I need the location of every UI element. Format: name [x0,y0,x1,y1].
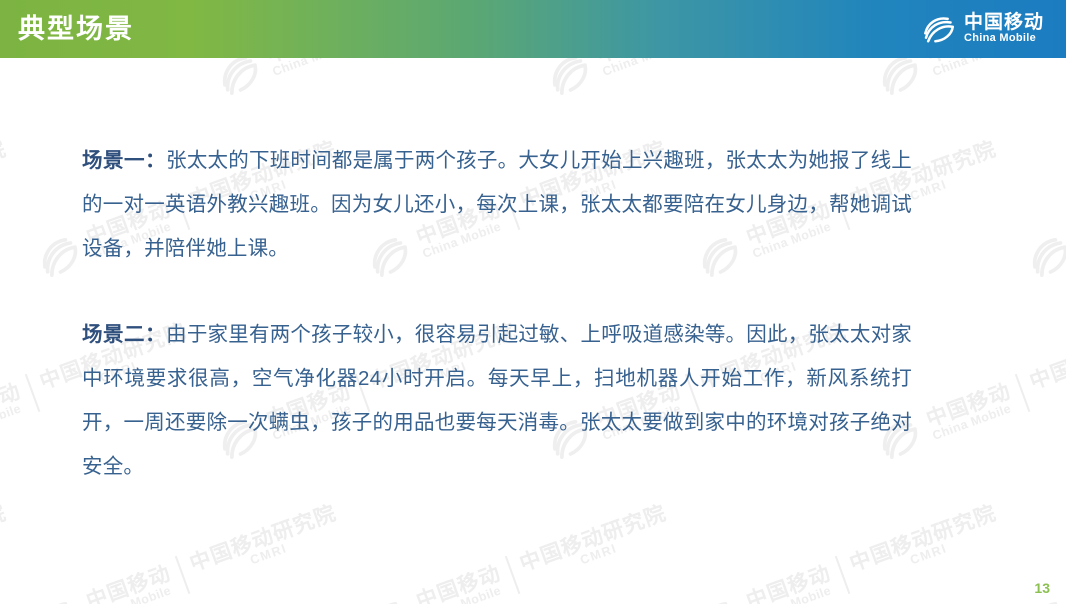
scenario-paragraph-2: 场景二：由于家里有两个孩子较小，很容易引起过敏、上呼吸道感染等。因此，张太太对家… [82,313,912,489]
watermark-brand-en: China Mobile [0,401,28,443]
china-mobile-logo: 中国移动 China Mobile [921,11,1044,47]
slide-canvas: 中国移动 China Mobile 中国移动研究院 CMRI [0,0,1066,604]
slide-header: 典型场景 中国移动 China Mobile [0,0,1066,58]
watermark-institute-en: CMRI [194,523,343,588]
watermark-brand-en: China Mobile [931,401,1018,443]
watermark-tile: 中国移动 China Mobile 中国移动研究院 CMRI [0,133,15,285]
watermark-text: 中国移动 China Mobile 中国移动研究院 CMRI [0,500,14,604]
watermark-text: 中国移动 China Mobile 中国移动研究院 CMRI [743,500,1005,604]
watermark-institute: 中国移动研究院 CMRI [847,502,1004,587]
watermark-institute-cn: 中国移动研究院 [1027,320,1066,393]
watermark-divider [835,556,851,594]
watermark-swirl-icon [360,590,419,604]
watermark-divider [175,556,191,594]
watermark-institute-en: CMRI [854,523,1003,588]
watermark-brand-cn: 中国移动 [84,562,174,604]
watermark-institute-en: CMRI [524,523,673,588]
logo-wordmark: 中国移动 China Mobile [964,13,1044,44]
watermark-divider [25,374,41,412]
watermark-institute-en: CMRI [1034,341,1066,406]
china-mobile-swirl-icon [921,11,957,47]
watermark-brand: 中国移动 China Mobile [414,562,509,604]
slide-body: 场景一：张太太的下班时间都是属于两个孩子。大女儿开始上兴趣班，张太太为她报了线上… [82,118,912,509]
watermark-brand-en: China Mobile [91,583,178,604]
watermark-institute: 中国移动研究院 CMRI [517,502,674,587]
watermark-institute: 中国移动研究院 CMRI [187,502,344,587]
watermark-institute-cn: 中国移动研究院 [0,138,9,211]
scenario-label-2: 场景二： [82,323,166,346]
watermark-brand-cn: 中国移动 [0,380,24,431]
watermark-institute-cn: 中国移动研究院 [847,502,999,575]
watermark-institute: 中国移动研究院 CMRI [1027,320,1066,405]
watermark-institute-en: CMRI [0,523,14,588]
watermark-swirl-icon [30,226,89,285]
watermark-brand-cn: 中国移动 [924,380,1014,431]
watermark-text: 中国移动 China Mobile 中国移动研究院 CMRI [923,318,1066,446]
watermark-brand: 中国移动 China Mobile [0,380,28,443]
logo-label-cn: 中国移动 [964,13,1044,33]
watermark-text: 中国移动 China Mobile 中国移动研究院 CMRI [83,500,345,604]
watermark-institute: 中国移动研究院 CMRI [0,502,14,587]
watermark-tile: 中国移动 China Mobile 中国移动研究院 CMRI [690,497,1005,604]
watermark-tile: 中国移动 China Mobile 中国移动研究院 CMRI [1020,133,1066,285]
scenario-text-1: 张太太的下班时间都是属于两个孩子。大女儿开始上兴趣班，张太太为她报了线上的一对一… [82,149,912,260]
page-title: 典型场景 [18,16,134,43]
scenario-label-1: 场景一： [82,149,166,172]
watermark-swirl-icon [1020,226,1066,285]
scenario-text-2: 由于家里有两个孩子较小，很容易引起过敏、上呼吸道感染等。因此，张太太对家中环境要… [82,323,912,478]
watermark-institute-cn: 中国移动研究院 [187,502,339,575]
watermark-divider [1015,374,1031,412]
watermark-institute-cn: 中国移动研究院 [0,502,9,575]
watermark-tile: 中国移动 China Mobile 中国移动研究院 CMRI [0,497,15,604]
logo-label-en: China Mobile [964,33,1044,45]
scenario-paragraph-1: 场景一：张太太的下班时间都是属于两个孩子。大女儿开始上兴趣班，张太太为她报了线上… [82,139,912,271]
watermark-brand: 中国移动 China Mobile [744,562,839,604]
watermark-institute-en: CMRI [0,159,14,224]
watermark-swirl-icon [690,590,749,604]
watermark-institute: 中国移动研究院 CMRI [0,138,14,223]
watermark-text: 中国移动 China Mobile 中国移动研究院 CMRI [0,136,14,264]
watermark-brand-en: China Mobile [751,583,838,604]
watermark-divider [505,556,521,594]
watermark-swirl-icon [30,590,89,604]
watermark-text: 中国移动 China Mobile 中国移动研究院 CMRI [413,500,675,604]
watermark-brand: 中国移动 China Mobile [84,562,179,604]
watermark-brand: 中国移动 China Mobile [924,380,1019,443]
page-number: 13 [1034,580,1050,596]
watermark-tile: 中国移动 China Mobile 中国移动研究院 CMRI [30,497,345,604]
watermark-brand-en: China Mobile [421,583,508,604]
watermark-brand-cn: 中国移动 [414,562,504,604]
watermark-brand-cn: 中国移动 [744,562,834,604]
watermark-tile: 中国移动 China Mobile 中国移动研究院 CMRI [360,497,675,604]
watermark-institute-cn: 中国移动研究院 [517,502,669,575]
